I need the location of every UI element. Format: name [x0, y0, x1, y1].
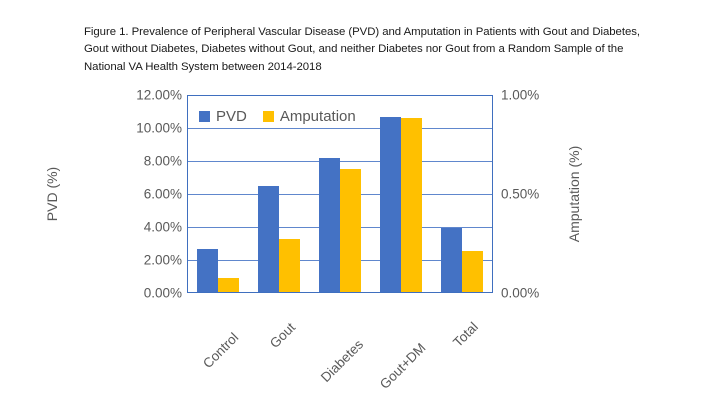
figure-container: Figure 1. Prevalence of Peripheral Vascu…	[0, 0, 720, 405]
y-tick-left-1: 2.00%	[104, 253, 182, 268]
bar-pvd-gout	[258, 186, 279, 292]
x-tick-label-control: Control	[200, 330, 241, 371]
legend-label-pvd: PVD	[216, 108, 247, 125]
bar-amputation-total	[462, 251, 483, 292]
bar-amputation-control	[218, 278, 239, 292]
chart-canvas: 0.00% 2.00% 4.00% 6.00% 8.00% 10.00% 12.…	[0, 0, 720, 405]
x-tick-label-total: Total	[450, 319, 481, 350]
chart-legend: PVD Amputation	[199, 108, 356, 125]
y-tick-left-3: 6.00%	[104, 187, 182, 202]
y-tick-right-2: 1.00%	[501, 88, 561, 103]
bar-series-container	[188, 96, 492, 292]
bar-pvd-gout-dm	[380, 117, 401, 292]
x-tick-label-gout-dm: Gout+DM	[377, 340, 429, 392]
x-tick-label-gout: Gout	[267, 320, 298, 351]
bar-group-total	[431, 96, 492, 292]
bar-pvd-diabetes	[319, 158, 340, 292]
bar-group-control	[188, 96, 249, 292]
y-tick-left-0: 0.00%	[104, 286, 182, 301]
y-tick-left-5: 10.00%	[104, 121, 182, 136]
bar-group-diabetes	[310, 96, 371, 292]
x-axis-ticks: Control Gout Diabetes Gout+DM Total	[188, 293, 492, 368]
bar-group-gout	[249, 96, 310, 292]
legend-item-amputation: Amputation	[263, 108, 356, 125]
y-tick-right-0: 0.00%	[501, 286, 561, 301]
legend-swatch-pvd-icon	[199, 111, 210, 122]
y-axis-left-title: PVD (%)	[44, 167, 60, 221]
legend-swatch-amputation-icon	[263, 111, 274, 122]
bar-amputation-gout	[279, 239, 300, 292]
bar-pvd-total	[441, 228, 462, 292]
bar-amputation-gout-dm	[401, 118, 422, 292]
y-axis-right-ticks: 0.00% 0.50% 1.00%	[501, 95, 561, 293]
bar-group-gout-dm	[370, 96, 431, 292]
legend-item-pvd: PVD	[199, 108, 247, 125]
x-tick-label-diabetes: Diabetes	[318, 337, 366, 385]
y-axis-right-title: Amputation (%)	[566, 146, 582, 242]
y-tick-right-1: 0.50%	[501, 187, 561, 202]
y-tick-left-4: 8.00%	[104, 154, 182, 169]
legend-label-amputation: Amputation	[280, 108, 356, 125]
y-axis-left-ticks: 0.00% 2.00% 4.00% 6.00% 8.00% 10.00% 12.…	[104, 95, 182, 293]
bar-pvd-control	[197, 249, 218, 292]
y-tick-left-6: 12.00%	[104, 88, 182, 103]
bar-amputation-diabetes	[340, 169, 361, 292]
y-tick-left-2: 4.00%	[104, 220, 182, 235]
